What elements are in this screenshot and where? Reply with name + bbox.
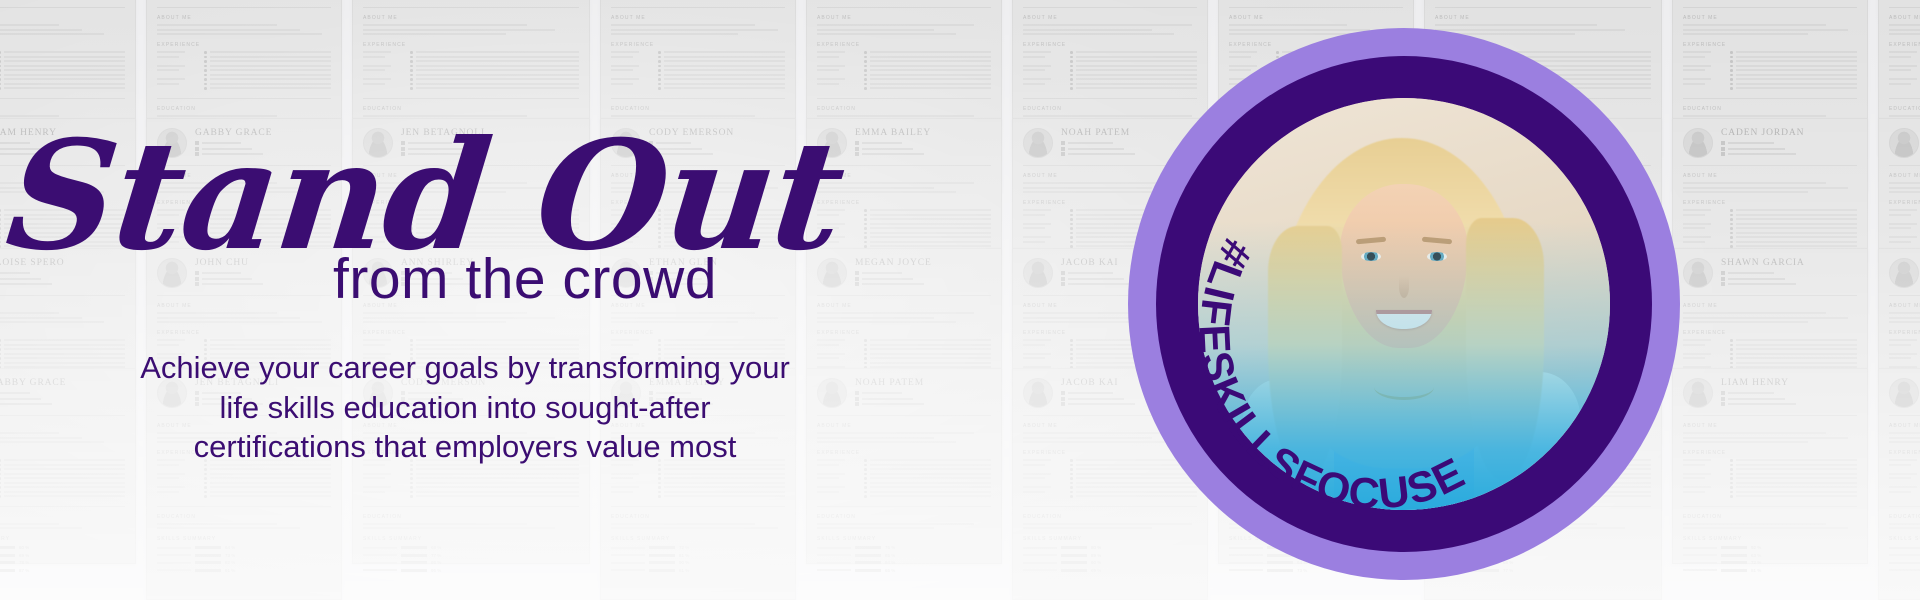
resume-section-title: ABOUT ME bbox=[1683, 15, 1857, 21]
resume-text-line bbox=[1683, 209, 1711, 211]
resume-text-line bbox=[1889, 344, 1911, 346]
resume-text-line bbox=[1683, 182, 1826, 184]
resume-text-line bbox=[1889, 227, 1911, 229]
experience-bullet bbox=[1730, 83, 1857, 86]
bullet-dot-icon bbox=[1730, 362, 1733, 365]
experience-bullet bbox=[1730, 69, 1857, 72]
resume-text-line bbox=[1736, 348, 1858, 350]
resume-divider bbox=[1889, 98, 1920, 99]
resume-text-line bbox=[1889, 187, 1920, 189]
resume-section: ABOUT ME bbox=[1683, 173, 1857, 193]
resume-text-line bbox=[1683, 83, 1705, 85]
experience-detail-column bbox=[1730, 353, 1857, 367]
resume-text-line bbox=[1889, 223, 1917, 225]
resume-text-line bbox=[1736, 69, 1858, 71]
bullet-dot-icon bbox=[1730, 83, 1733, 86]
resume-text-line bbox=[1023, 78, 1051, 80]
resume-section-title: ABOUT ME bbox=[1889, 15, 1920, 21]
bullet-dot-icon bbox=[1730, 51, 1733, 54]
resume-text-line bbox=[1683, 69, 1705, 71]
experience-date-column bbox=[1889, 339, 1920, 353]
bullet-dot-icon bbox=[1070, 348, 1073, 351]
bullet-dot-icon bbox=[1070, 227, 1073, 230]
resume-text-line bbox=[1889, 357, 1911, 359]
resume-section-title: EXPERIENCE bbox=[1683, 200, 1857, 206]
contact-text-placeholder bbox=[1068, 153, 1135, 155]
resume-text-line bbox=[1889, 78, 1917, 80]
resume-experience-entry bbox=[1683, 209, 1857, 223]
contact-dot-icon bbox=[1061, 141, 1065, 145]
resume-section-title: EDUCATION bbox=[1683, 106, 1857, 112]
resume-text-line bbox=[1889, 353, 1917, 355]
bullet-dot-icon bbox=[1070, 339, 1073, 342]
experience-bullet bbox=[1730, 357, 1857, 360]
resume-header: ALLISON TAYLOR bbox=[1683, 0, 1857, 8]
bullet-dot-icon bbox=[1070, 78, 1073, 81]
resume-text-line bbox=[1023, 51, 1051, 53]
resume-text-line bbox=[1023, 65, 1051, 67]
resume-experience-entry bbox=[1683, 51, 1857, 65]
resume-text-line bbox=[1023, 344, 1045, 346]
avatar bbox=[1889, 258, 1919, 288]
experience-bullet bbox=[1730, 78, 1857, 81]
resume-text-line bbox=[1023, 241, 1045, 243]
resume-text-line bbox=[1889, 83, 1911, 85]
resume-section-title: EXPERIENCE bbox=[1889, 330, 1920, 336]
experience-bullet bbox=[1730, 87, 1857, 90]
resume-header: JACOB KAI bbox=[1229, 0, 1403, 8]
resume-experience-section: EXPERIENCE bbox=[1683, 200, 1857, 250]
hero-banner: SHAWN GARCIAABOUT MEEXPERIENCEEDUCATIONS… bbox=[0, 0, 1920, 600]
resume-header: SHAWN GARCIA bbox=[1889, 0, 1920, 8]
contact-text-placeholder bbox=[1728, 153, 1796, 155]
bullet-dot-icon bbox=[1730, 232, 1733, 235]
contact-line bbox=[1721, 282, 1857, 286]
resume-text-line bbox=[1683, 353, 1711, 355]
avatar bbox=[1023, 258, 1053, 288]
bullet-dot-icon bbox=[1730, 218, 1733, 221]
contact-text-placeholder bbox=[1728, 272, 1774, 274]
experience-detail-column bbox=[1730, 339, 1857, 353]
bullet-dot-icon bbox=[1730, 344, 1733, 347]
contact-dot-icon bbox=[1061, 282, 1065, 286]
experience-date-column bbox=[1683, 223, 1723, 237]
resume-header: CADEN JORDAN bbox=[1683, 128, 1857, 166]
bullet-dot-icon bbox=[1070, 357, 1073, 360]
contact-dot-icon bbox=[1721, 141, 1725, 145]
contact-dot-icon bbox=[1721, 147, 1725, 151]
bullet-dot-icon bbox=[1730, 65, 1733, 68]
contact-text-placeholder bbox=[1068, 142, 1113, 144]
resume-experience-entry bbox=[1889, 223, 1920, 237]
bullet-dot-icon bbox=[1730, 357, 1733, 360]
resume-text-line bbox=[1736, 78, 1858, 80]
bullet-dot-icon bbox=[1070, 223, 1073, 226]
experience-bullet bbox=[1730, 236, 1857, 239]
bullet-dot-icon bbox=[1730, 69, 1733, 72]
resume-text-line bbox=[1889, 115, 1920, 117]
contact-dot-icon bbox=[1721, 277, 1725, 281]
resume-section: ABOUT ME bbox=[1889, 173, 1920, 193]
bullet-dot-icon bbox=[1070, 232, 1073, 235]
experience-bullet bbox=[1730, 209, 1857, 212]
bullet-dot-icon bbox=[1730, 87, 1733, 90]
resume-experience-entry bbox=[1683, 65, 1857, 79]
experience-date-column bbox=[1683, 51, 1723, 65]
resume-text-line bbox=[1683, 321, 1808, 323]
resume-name-block: SHAWN GARCIA bbox=[1721, 258, 1857, 288]
bullet-dot-icon bbox=[1070, 209, 1073, 212]
resume-contact-lines bbox=[1721, 271, 1857, 286]
resume-text-line bbox=[1736, 241, 1858, 243]
resume-text-line bbox=[1889, 241, 1911, 243]
resume-section-title: EXPERIENCE bbox=[1683, 330, 1857, 336]
resume-section: ABOUT ME bbox=[1683, 15, 1857, 35]
resume-text-line bbox=[1023, 24, 1192, 26]
bullet-dot-icon bbox=[1730, 74, 1733, 77]
experience-bullet bbox=[1730, 227, 1857, 230]
experience-date-column bbox=[1683, 339, 1723, 353]
resume-experience-entry bbox=[1889, 51, 1920, 65]
resume-text-line bbox=[1736, 357, 1858, 359]
resume-text-line bbox=[1683, 236, 1711, 238]
resume-text-line bbox=[1683, 357, 1705, 359]
contact-line bbox=[1721, 141, 1857, 145]
experience-bullet bbox=[1730, 60, 1857, 63]
contact-dot-icon bbox=[1061, 152, 1065, 156]
bullet-dot-icon bbox=[1070, 236, 1073, 239]
resume-text-line bbox=[1683, 29, 1848, 31]
experience-bullet bbox=[1730, 353, 1857, 356]
experience-detail-column bbox=[1730, 223, 1857, 237]
resume-text-line bbox=[1683, 24, 1826, 26]
resume-text-line bbox=[1229, 24, 1347, 26]
contact-text-placeholder bbox=[1068, 283, 1135, 285]
experience-date-column bbox=[1023, 223, 1063, 237]
bullet-dot-icon bbox=[1730, 339, 1733, 342]
experience-detail-column bbox=[1730, 65, 1857, 79]
resume-text-line bbox=[1683, 241, 1705, 243]
avatar bbox=[1889, 128, 1919, 158]
experience-date-column bbox=[1889, 353, 1920, 367]
experience-date-column bbox=[1023, 51, 1063, 65]
bullet-dot-icon bbox=[1070, 344, 1073, 347]
resume-text-line bbox=[1023, 353, 1051, 355]
contact-text-placeholder bbox=[1728, 142, 1774, 144]
bullet-dot-icon bbox=[1730, 353, 1733, 356]
resume-text-line bbox=[1023, 209, 1051, 211]
resume-section-title: ABOUT ME bbox=[1229, 15, 1403, 21]
contact-line bbox=[1721, 277, 1857, 281]
experience-date-column bbox=[1023, 353, 1063, 367]
resume-section-title: EXPERIENCE bbox=[1889, 200, 1920, 206]
contact-dot-icon bbox=[1721, 282, 1725, 286]
contact-text-placeholder bbox=[1728, 278, 1785, 280]
resume-text-line bbox=[1736, 83, 1858, 85]
resume-text-line bbox=[1683, 344, 1705, 346]
resume-text-line bbox=[1023, 357, 1045, 359]
experience-bullet bbox=[1730, 65, 1857, 68]
resume-experience-entry bbox=[1683, 223, 1857, 237]
bullet-dot-icon bbox=[1070, 362, 1073, 365]
resume-name-block: CADEN JORDAN bbox=[1721, 128, 1857, 158]
resume-experience-entry bbox=[1683, 353, 1857, 367]
resume-name: CADEN JORDAN bbox=[1721, 128, 1857, 138]
resume-text-line bbox=[1736, 362, 1858, 364]
resume-text-line bbox=[1736, 236, 1858, 238]
contact-dot-icon bbox=[1721, 271, 1725, 275]
experience-date-column bbox=[1889, 51, 1920, 65]
resume-text-line bbox=[1683, 339, 1711, 341]
experience-date-column bbox=[1683, 78, 1723, 92]
resume-experience-entry bbox=[1889, 78, 1920, 92]
resume-text-line bbox=[1683, 33, 1808, 35]
experience-bullet bbox=[1730, 214, 1857, 217]
resume-text-line bbox=[1889, 24, 1920, 26]
bullet-dot-icon bbox=[1730, 78, 1733, 81]
experience-bullet bbox=[1730, 241, 1857, 244]
resume-experience-entry bbox=[1683, 78, 1857, 92]
experience-bullet bbox=[1730, 232, 1857, 235]
experience-bullet bbox=[1730, 223, 1857, 226]
experience-date-column bbox=[1683, 353, 1723, 367]
experience-bullet bbox=[1730, 56, 1857, 59]
resume-text-line bbox=[1683, 65, 1711, 67]
experience-date-column bbox=[1023, 209, 1063, 223]
resume-section-title: ABOUT ME bbox=[1683, 303, 1857, 309]
resume-experience-entry bbox=[1683, 339, 1857, 353]
resume-experience-entry bbox=[1889, 65, 1920, 79]
resume-text-line bbox=[1736, 74, 1858, 76]
resume-text-line bbox=[1736, 60, 1858, 62]
contact-dot-icon bbox=[1721, 152, 1725, 156]
contact-text-placeholder bbox=[1728, 148, 1785, 150]
contact-text-placeholder bbox=[1068, 272, 1113, 274]
resume-text-line bbox=[1683, 78, 1711, 80]
experience-bullet bbox=[1730, 74, 1857, 77]
resume-text-line bbox=[1889, 312, 1920, 314]
resume-section-title: EXPERIENCE bbox=[1889, 42, 1920, 48]
resume-section-title: ABOUT ME bbox=[1023, 15, 1197, 21]
bullet-dot-icon bbox=[1730, 214, 1733, 217]
avatar bbox=[1023, 128, 1053, 158]
resume-section-title: ABOUT ME bbox=[1889, 303, 1920, 309]
resume-text-line bbox=[1889, 339, 1917, 341]
experience-date-column bbox=[1683, 65, 1723, 79]
resume-text-line bbox=[1736, 339, 1858, 341]
resume-experience-section: EXPERIENCE bbox=[1889, 42, 1920, 92]
resume-text-line bbox=[1889, 51, 1917, 53]
bullet-dot-icon bbox=[1070, 87, 1073, 90]
resume-text-line bbox=[1023, 223, 1051, 225]
bullet-dot-icon bbox=[1070, 65, 1073, 68]
bullet-dot-icon bbox=[1730, 56, 1733, 59]
resume-header: JACOB KALEN bbox=[1435, 0, 1651, 8]
bullet-dot-icon bbox=[1070, 241, 1073, 244]
bullet-dot-icon bbox=[1730, 227, 1733, 230]
resume-text-line bbox=[1736, 344, 1858, 346]
resume-text-line bbox=[1023, 227, 1045, 229]
resume-header: SHAWN GARCIA bbox=[1683, 258, 1857, 296]
resume-divider bbox=[1683, 98, 1857, 99]
experience-date-column bbox=[1889, 209, 1920, 223]
experience-detail-column bbox=[1730, 209, 1857, 223]
resume-section-title: EXPERIENCE bbox=[1683, 42, 1857, 48]
resume-experience-entry bbox=[1889, 339, 1920, 353]
resume-text-line bbox=[1736, 232, 1858, 234]
resume-text-line bbox=[1889, 56, 1911, 58]
resume-text-line bbox=[1736, 214, 1858, 216]
resume-text-line bbox=[1683, 223, 1711, 225]
resume-section: ABOUT ME bbox=[1889, 303, 1920, 323]
resume-experience-entry bbox=[1889, 209, 1920, 223]
resume-text-line bbox=[1889, 321, 1920, 323]
avatar bbox=[1683, 128, 1713, 158]
resume-text-line bbox=[1736, 87, 1858, 89]
experience-bullet bbox=[1730, 51, 1857, 54]
resume-header: MEGAN JOYCE bbox=[1023, 0, 1197, 8]
resume-text-line bbox=[1023, 236, 1051, 238]
resume-text-line bbox=[1736, 223, 1858, 225]
contact-text-placeholder bbox=[1728, 283, 1796, 285]
experience-date-column bbox=[1023, 339, 1063, 353]
bullet-dot-icon bbox=[1730, 223, 1733, 226]
resume-section-title: EDUCATION bbox=[1889, 106, 1920, 112]
resume-text-line bbox=[1023, 83, 1045, 85]
experience-detail-column bbox=[1730, 51, 1857, 65]
resume-text-line bbox=[1736, 353, 1858, 355]
resume-header: ELOISE SPERO bbox=[1889, 258, 1920, 296]
bullet-dot-icon bbox=[1070, 60, 1073, 63]
resume-text-line bbox=[1435, 24, 1597, 26]
resume-section: ABOUT ME bbox=[1889, 15, 1920, 35]
resume-text-line bbox=[1683, 227, 1705, 229]
resume-text-line bbox=[1023, 339, 1051, 341]
experience-date-column bbox=[1023, 78, 1063, 92]
resume-text-line bbox=[1683, 312, 1826, 314]
bullet-dot-icon bbox=[1070, 51, 1073, 54]
experience-bullet bbox=[1730, 339, 1857, 342]
resume-text-line bbox=[1023, 56, 1045, 58]
resume-section: ABOUT ME bbox=[1683, 303, 1857, 323]
contact-dot-icon bbox=[1061, 147, 1065, 151]
resume-text-line bbox=[1683, 317, 1848, 319]
bullet-dot-icon bbox=[1070, 69, 1073, 72]
resume-text-line bbox=[1889, 33, 1920, 35]
resume-section-title: ABOUT ME bbox=[1889, 173, 1920, 179]
resume-text-line bbox=[1683, 115, 1826, 117]
resume-section-title: ABOUT ME bbox=[1683, 173, 1857, 179]
resume-experience-entry bbox=[1889, 353, 1920, 367]
resume-text-line bbox=[1889, 191, 1920, 193]
bullet-dot-icon bbox=[1730, 209, 1733, 212]
contact-line bbox=[1721, 152, 1857, 156]
contact-line bbox=[1721, 147, 1857, 151]
bullet-dot-icon bbox=[1070, 56, 1073, 59]
resume-text-line bbox=[1889, 29, 1920, 31]
resume-text-line bbox=[1736, 218, 1858, 220]
resume-text-line bbox=[1023, 214, 1045, 216]
experience-detail-column bbox=[1730, 78, 1857, 92]
experience-date-column bbox=[1889, 65, 1920, 79]
resume-text-line bbox=[1889, 182, 1920, 184]
experience-bullet bbox=[1730, 218, 1857, 221]
resume-text-line bbox=[1683, 51, 1711, 53]
experience-date-column bbox=[1889, 78, 1920, 92]
resume-text-line bbox=[1683, 56, 1705, 58]
resume-text-line bbox=[1736, 56, 1858, 58]
resume-name: SHAWN GARCIA bbox=[1721, 258, 1857, 268]
resume-text-line bbox=[1889, 236, 1917, 238]
resume-text-line bbox=[1683, 214, 1705, 216]
resume-text-line bbox=[1889, 214, 1911, 216]
resume-text-line bbox=[1889, 65, 1917, 67]
resume-text-line bbox=[1023, 69, 1045, 71]
resume-text-line bbox=[1736, 65, 1858, 67]
resume-contact-lines bbox=[1721, 141, 1857, 156]
experience-bullet bbox=[1730, 362, 1857, 365]
bullet-dot-icon bbox=[1070, 218, 1073, 221]
resume-text-line bbox=[1683, 187, 1848, 189]
bullet-dot-icon bbox=[1070, 83, 1073, 86]
resume-section-title: ABOUT ME bbox=[1435, 15, 1651, 21]
resume-experience-section: EXPERIENCE bbox=[1683, 42, 1857, 92]
resume-text-line bbox=[1889, 69, 1911, 71]
bullet-dot-icon bbox=[1730, 236, 1733, 239]
bullet-dot-icon bbox=[1730, 241, 1733, 244]
bullet-dot-icon bbox=[1070, 353, 1073, 356]
experience-bullet bbox=[1730, 348, 1857, 351]
resume-text-line bbox=[1683, 191, 1808, 193]
experience-date-column bbox=[1889, 223, 1920, 237]
resume-header: LIAM HENRY bbox=[1889, 128, 1920, 166]
resume-text-line bbox=[1736, 245, 1858, 247]
contact-text-placeholder bbox=[1068, 278, 1124, 280]
contact-dot-icon bbox=[1061, 277, 1065, 281]
resume-text-line bbox=[1889, 317, 1920, 319]
resume-text-line bbox=[1889, 209, 1917, 211]
resume-text-line bbox=[1736, 209, 1858, 211]
bullet-dot-icon bbox=[1070, 74, 1073, 77]
avatar bbox=[1683, 258, 1713, 288]
experience-date-column bbox=[1683, 209, 1723, 223]
bullet-dot-icon bbox=[1070, 214, 1073, 217]
experience-date-column bbox=[1023, 65, 1063, 79]
resume-experience-section: EXPERIENCE bbox=[1889, 200, 1920, 250]
resume-text-line bbox=[1736, 227, 1858, 229]
contact-dot-icon bbox=[1061, 271, 1065, 275]
contact-line bbox=[1721, 271, 1857, 275]
contact-text-placeholder bbox=[1068, 148, 1124, 150]
resume-text-line bbox=[1736, 51, 1858, 53]
bullet-dot-icon bbox=[1730, 60, 1733, 63]
bullet-dot-icon bbox=[1730, 348, 1733, 351]
experience-bullet bbox=[1730, 344, 1857, 347]
